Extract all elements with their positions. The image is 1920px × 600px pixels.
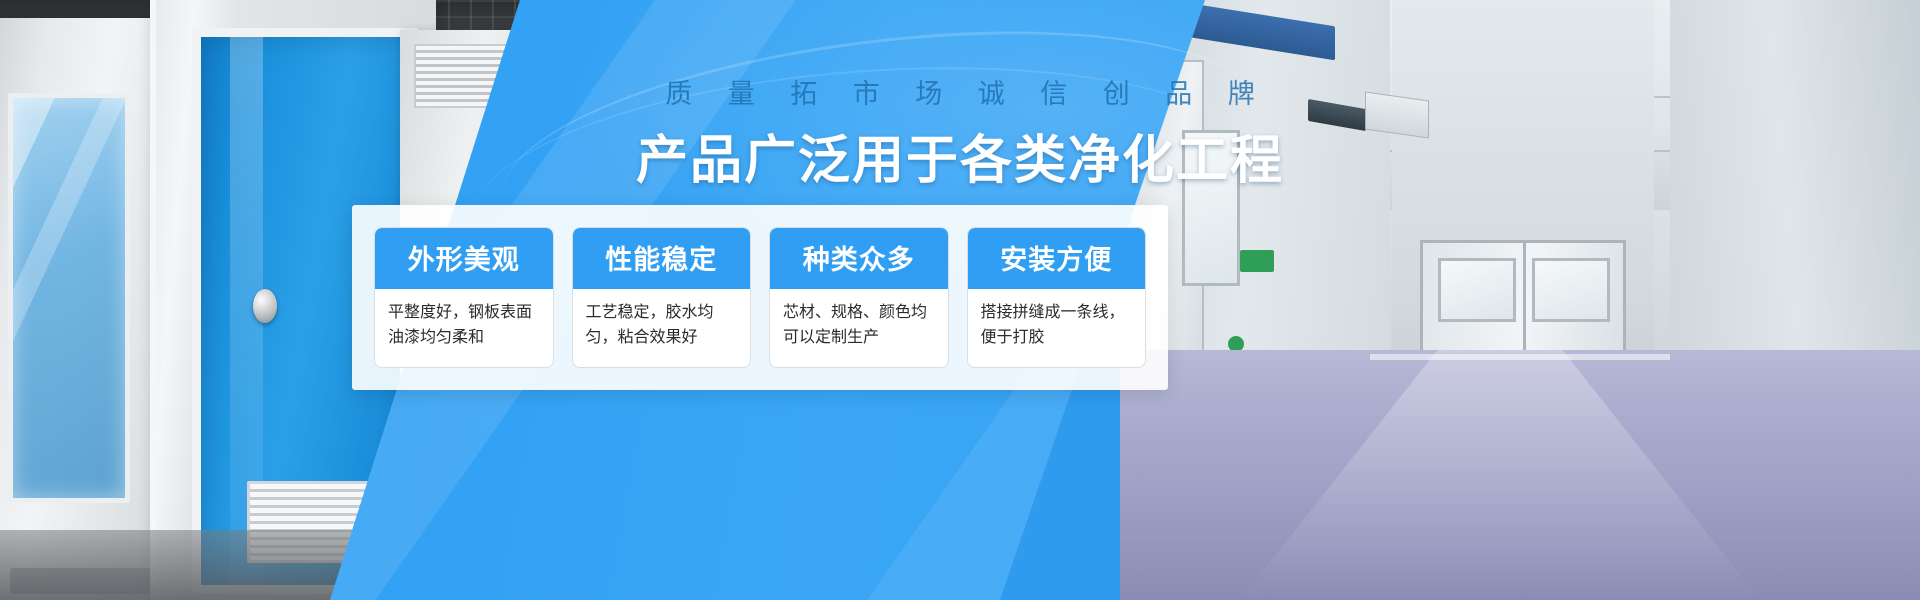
promo-banner: 质 量 拓 市 场 诚 信 创 品 牌 产品广泛用于各类净化工程 外形美观 平整… — [0, 0, 1920, 600]
door-handle — [253, 289, 277, 323]
door-vision-panel-right — [1532, 258, 1610, 322]
feature-card[interactable]: 外形美观 平整度好，钢板表面油漆均匀柔和 — [374, 227, 554, 368]
feature-card-body: 芯材、规格、颜色均可以定制生产 — [770, 289, 948, 367]
feature-card-title: 外形美观 — [375, 228, 553, 289]
feature-card-title: 性能稳定 — [573, 228, 751, 289]
floor-baseboard — [1370, 354, 1670, 360]
door-vision-panel-left — [1438, 258, 1516, 322]
exit-sign-green — [1240, 250, 1274, 272]
feature-card[interactable]: 种类众多 芯材、规格、颜色均可以定制生产 — [769, 227, 949, 368]
feature-card[interactable]: 安装方便 搭接拼缝成一条线，便于打胶 — [967, 227, 1147, 368]
feature-card-body: 平整度好，钢板表面油漆均匀柔和 — [375, 289, 553, 367]
feature-card-title: 种类众多 — [770, 228, 948, 289]
feature-cards-panel: 外形美观 平整度好，钢板表面油漆均匀柔和 性能稳定 工艺稳定，胶水均匀，粘合效果… — [352, 205, 1168, 390]
feature-card-body: 搭接拼缝成一条线，便于打胶 — [968, 289, 1146, 367]
feature-card[interactable]: 性能稳定 工艺稳定，胶水均匀，粘合效果好 — [572, 227, 752, 368]
feature-card-title: 安装方便 — [968, 228, 1146, 289]
feature-card-body: 工艺稳定，胶水均匀，粘合效果好 — [573, 289, 751, 367]
banner-headline: 产品广泛用于各类净化工程 — [0, 118, 1920, 193]
banner-tagline: 质 量 拓 市 场 诚 信 创 品 牌 — [0, 72, 1920, 111]
